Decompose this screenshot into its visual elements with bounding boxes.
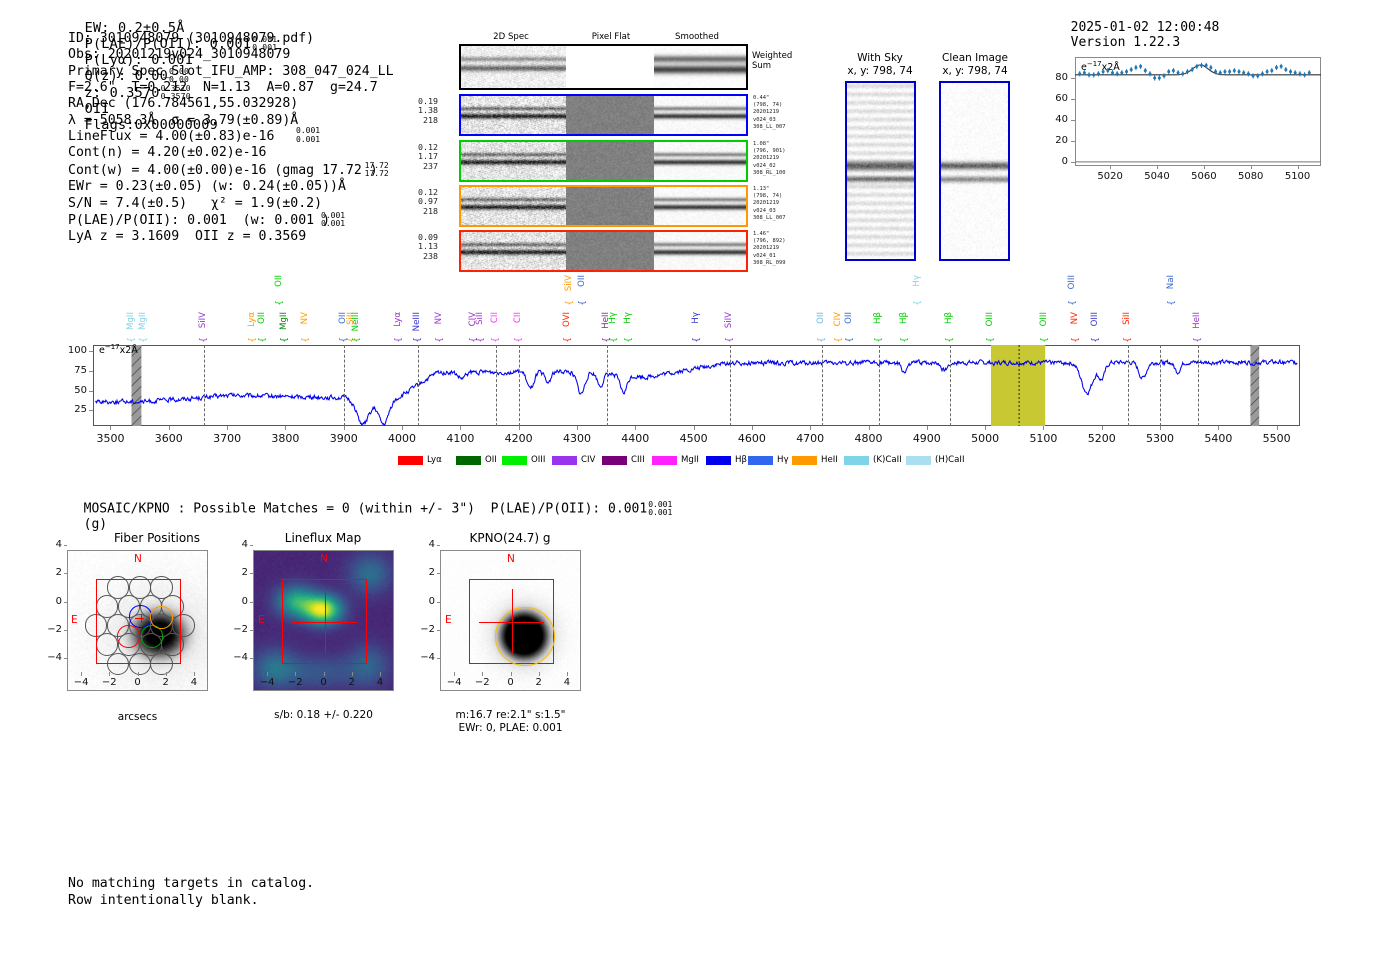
mosaic-ytick-label: −2 bbox=[43, 624, 62, 635]
main-xtick-label: 5300 bbox=[1140, 432, 1180, 445]
emission-line-brace: { bbox=[275, 300, 285, 306]
lineflux-east-label: E bbox=[258, 614, 265, 626]
emission-line-marker bbox=[730, 345, 731, 426]
main-spectrum-units: e−17x2Å bbox=[99, 343, 138, 356]
mosaic-ytick-label: 4 bbox=[43, 539, 62, 550]
emission-line-brace: { bbox=[578, 300, 588, 306]
emission-line-label: NV bbox=[1071, 312, 1080, 324]
spec2d-2dspec-strip bbox=[461, 96, 566, 134]
mosaic-xtick bbox=[166, 672, 167, 676]
spec2d-smoothed-strip bbox=[654, 96, 746, 134]
mosaic-xtick bbox=[194, 672, 195, 676]
emission-line-label: Hγ bbox=[692, 312, 701, 324]
emission-line-marker bbox=[1128, 345, 1129, 426]
emission-line-brace: { bbox=[413, 337, 423, 343]
object-info-block: ID: 3010948079 (3010948079.pdf) Obs: 202… bbox=[68, 31, 404, 246]
emission-line-brace: { bbox=[301, 337, 311, 343]
spec2d-smoothed-strip bbox=[654, 187, 746, 225]
spec2d-row-right-meta: 0.44"(798, 74)20201219v024_03308_LL_007 bbox=[753, 95, 785, 131]
emission-line-label: Hβ bbox=[945, 312, 954, 324]
legend-label: CIII bbox=[631, 455, 645, 465]
info-line-cont-w: Cont(w) = 4.00(±0.00)e-16 (gmag 17.72 )1… bbox=[68, 162, 404, 180]
emission-line-marker bbox=[204, 345, 205, 426]
mosaic-xtick-label: −2 bbox=[470, 677, 494, 688]
legend-label: HeII bbox=[821, 455, 838, 465]
main-xtick-label: 5000 bbox=[965, 432, 1005, 445]
emission-line-label: OII bbox=[817, 312, 826, 324]
mosaic-ytick-label: 0 bbox=[229, 596, 248, 607]
zoom-xtick-label: 5060 bbox=[1187, 171, 1221, 182]
spectrum-legend: LyαOIIOIIICIVCIIIMgIIHβHγHeII(K)CaII(H)C… bbox=[398, 455, 1018, 469]
spec2d-smoothed-strip bbox=[654, 232, 746, 270]
mosaic-headline: MOSAIC/KPNO : Possible Matches = 0 (with… bbox=[68, 486, 673, 532]
fiber-north-label: N bbox=[134, 553, 142, 565]
emission-line-label: Hγ bbox=[913, 275, 922, 287]
emission-line-label: MgII bbox=[280, 312, 289, 330]
emission-line-brace: { bbox=[1068, 300, 1078, 306]
emission-line-marker bbox=[344, 345, 345, 426]
mosaic-ytick bbox=[437, 630, 441, 631]
info-line-lineflux: LineFlux = 4.00(±0.83)e-16 bbox=[68, 129, 404, 145]
mosaic-ytick bbox=[250, 630, 254, 631]
main-xtick bbox=[810, 426, 811, 430]
emission-line-label: Lyα bbox=[394, 312, 403, 327]
clean-image-coords: x, y: 798, 74 bbox=[880, 65, 1070, 78]
info-line-lambda: λ = 5058.3Å σ = 3.79(±0.89)Å bbox=[68, 113, 404, 129]
info-line-snr: S/N = 7.4(±0.5) χ² = 1.9(±0.2) bbox=[68, 196, 404, 212]
mosaic-xtick bbox=[380, 672, 381, 676]
emission-line-label: Hγ bbox=[609, 312, 618, 324]
fiber-positions-xlabel: arcsecs bbox=[67, 711, 208, 723]
mosaic-xtick bbox=[324, 672, 325, 676]
mosaic-ytick-label: −2 bbox=[416, 624, 435, 635]
mosaic-ytick bbox=[64, 545, 68, 546]
emission-line-brace: { bbox=[1071, 337, 1081, 343]
emission-line-label: SiIV bbox=[725, 312, 734, 328]
fiber-crosshair-v bbox=[141, 614, 142, 623]
main-xtick bbox=[752, 426, 753, 430]
spec2d-pixelflat-strip bbox=[566, 142, 654, 180]
emission-line-marker bbox=[950, 345, 951, 426]
info-line-plae: P(LAE)/P(OII): 0.001 (w: 0.001 )0.0010.0… bbox=[68, 212, 404, 230]
emission-line-label: OIII bbox=[1040, 312, 1049, 326]
main-xtick-label: 4900 bbox=[907, 432, 947, 445]
main-xtick bbox=[227, 426, 228, 430]
info-line-cont-n: Cont(n) = 4.20(±0.02)e-16 bbox=[68, 145, 404, 161]
emission-line-label: OII bbox=[258, 312, 267, 324]
zoom-ytick-label: 40 bbox=[1043, 114, 1068, 125]
main-xtick-label: 4800 bbox=[849, 432, 889, 445]
spec2d-row-right-meta: 1.13"(798, 74)20201219v024_03308_LL_007 bbox=[753, 186, 785, 222]
spec2d-row-1 bbox=[459, 94, 748, 136]
emission-line-label: SiII bbox=[1123, 312, 1132, 325]
zoom-xtick-label: 5100 bbox=[1281, 171, 1315, 182]
emission-line-brace: { bbox=[1040, 337, 1050, 343]
emission-line-brace: { bbox=[352, 337, 362, 343]
spec2d-pixelflat-strip bbox=[566, 232, 654, 270]
emission-line-brace: { bbox=[469, 337, 479, 343]
with-sky-image bbox=[845, 81, 916, 261]
legend-swatch bbox=[456, 456, 481, 465]
emission-line-brace: { bbox=[563, 337, 573, 343]
legend-swatch bbox=[502, 456, 527, 465]
mosaic-ytick bbox=[64, 630, 68, 631]
spec2d-pixelflat-strip bbox=[566, 187, 654, 225]
main-xtick-label: 4500 bbox=[674, 432, 714, 445]
spec2d-2dspec-strip bbox=[461, 142, 566, 180]
emission-line-brace: { bbox=[258, 337, 268, 343]
mosaic-xtick bbox=[109, 672, 110, 676]
spec2d-col-header-smoothed: Smoothed bbox=[662, 32, 732, 42]
mosaic-xtick-label: 0 bbox=[312, 677, 336, 688]
mosaic-ytick-label: −4 bbox=[416, 652, 435, 663]
mosaic-xtick-label: −2 bbox=[283, 677, 307, 688]
emission-line-label: MgII bbox=[127, 312, 136, 330]
main-xtick bbox=[285, 426, 286, 430]
main-xtick bbox=[927, 426, 928, 430]
lineflux-map-title: Lineflux Map bbox=[228, 531, 418, 545]
emission-line-label: Lyα bbox=[248, 312, 257, 327]
mosaic-ytick bbox=[64, 658, 68, 659]
mosaic-xtick bbox=[352, 672, 353, 676]
main-ytick-label: 50 bbox=[59, 385, 87, 396]
main-xtick bbox=[1160, 426, 1161, 430]
zoom-xtick-label: 5020 bbox=[1093, 171, 1127, 182]
emission-line-label: Hγ bbox=[624, 312, 633, 324]
mosaic-xtick-label: 2 bbox=[154, 677, 178, 688]
spec2d-2dspec-strip bbox=[461, 187, 566, 225]
mosaic-ytick-label: 2 bbox=[229, 567, 248, 578]
legend-label: Lyα bbox=[427, 455, 442, 465]
emission-line-brace: { bbox=[1091, 337, 1101, 343]
main-ytick bbox=[89, 371, 93, 372]
mosaic-xtick-label: −4 bbox=[69, 677, 93, 688]
mosaic-xtick-label: 4 bbox=[555, 677, 579, 688]
main-xtick bbox=[1218, 426, 1219, 430]
main-xtick bbox=[985, 426, 986, 430]
emission-line-brace: { bbox=[139, 337, 149, 343]
main-ytick-label: 100 bbox=[59, 345, 87, 356]
info-plae-errors-inline: 0.0010.001 bbox=[296, 127, 320, 143]
main-xtick-label: 5200 bbox=[1082, 432, 1122, 445]
emission-line-brace: { bbox=[1123, 337, 1133, 343]
zoom-ytick bbox=[1071, 99, 1075, 100]
kpno-east-label: E bbox=[445, 614, 452, 626]
spec2d-panel-group: 2D Spec Pixel Flat Smoothed WeightedSum … bbox=[440, 32, 810, 247]
zoom-ytick bbox=[1071, 120, 1075, 121]
mosaic-ytick bbox=[437, 602, 441, 603]
main-xtick bbox=[344, 426, 345, 430]
info-plae-w-errors: 0.0010.001 bbox=[321, 212, 345, 228]
main-xtick bbox=[1102, 426, 1103, 430]
mosaic-ytick-label: 0 bbox=[43, 596, 62, 607]
mosaic-xtick bbox=[454, 672, 455, 676]
mosaic-xtick-label: −4 bbox=[442, 677, 466, 688]
emission-line-label: OIII bbox=[986, 312, 995, 326]
emission-line-label: NV bbox=[301, 312, 310, 324]
legend-label: Hγ bbox=[777, 455, 789, 465]
mosaic-xtick bbox=[138, 672, 139, 676]
main-ytick bbox=[89, 410, 93, 411]
main-xtick-label: 4000 bbox=[382, 432, 422, 445]
emission-line-label: NaI bbox=[1167, 275, 1176, 289]
fiber-east-label: E bbox=[71, 614, 78, 626]
header-datetime: 2025-01-02 12:00:48 bbox=[1071, 20, 1220, 35]
main-xtick-label: 3800 bbox=[265, 432, 305, 445]
info-line-obs: Obs: 20201219v024_3010948079 bbox=[68, 47, 404, 63]
zoom-ytick-label: 0 bbox=[1043, 156, 1068, 167]
emission-line-marker bbox=[496, 345, 497, 426]
legend-swatch bbox=[398, 456, 423, 465]
mosaic-xtick bbox=[81, 672, 82, 676]
main-xtick bbox=[169, 426, 170, 430]
emission-line-brace: { bbox=[127, 337, 137, 343]
legend-swatch bbox=[652, 456, 677, 465]
main-xtick-label: 4400 bbox=[615, 432, 655, 445]
emission-line-brace: { bbox=[986, 337, 996, 343]
mosaic-xtick-label: 4 bbox=[182, 677, 206, 688]
main-xtick bbox=[402, 426, 403, 430]
emission-line-brace: { bbox=[834, 337, 844, 343]
mosaic-xtick-label: 2 bbox=[527, 677, 551, 688]
spec2d-row-left-values: 0.121.17237 bbox=[408, 143, 438, 171]
header-timestamp-version: 2025-01-02 12:00:48 Version 1.22.3 bbox=[1055, 5, 1235, 50]
mosaic-ytick-label: 4 bbox=[229, 539, 248, 550]
info-line-id: ID: 3010948079 (3010948079.pdf) bbox=[68, 31, 404, 47]
main-ytick-label: 25 bbox=[59, 404, 87, 415]
info-line-fluxparams: F=2.6" T=0.212 N=1.13 A=0.87 g=24.7 bbox=[68, 80, 404, 96]
info-gmag-errors: 17.7217.72 bbox=[365, 162, 389, 178]
mosaic-xtick bbox=[511, 672, 512, 676]
emission-line-label: MgII bbox=[139, 312, 148, 330]
mosaic-ytick-label: −4 bbox=[229, 652, 248, 663]
emission-line-brace: { bbox=[624, 337, 634, 343]
emission-line-label: Hβ bbox=[900, 312, 909, 324]
emission-line-label: OII bbox=[845, 312, 854, 324]
emission-line-label: OVI bbox=[563, 312, 572, 327]
spec2d-smoothed-strip bbox=[654, 142, 746, 180]
kpno-north-label: N bbox=[507, 553, 515, 565]
emission-line-brace: { bbox=[874, 337, 884, 343]
spec2d-ws-2dspec bbox=[461, 46, 566, 88]
mosaic-xtick-label: −2 bbox=[97, 677, 121, 688]
spec2d-col-header-pixelflat: Pixel Flat bbox=[578, 32, 644, 42]
zoom-xtick bbox=[1298, 165, 1299, 169]
spec2d-2dspec-strip bbox=[461, 232, 566, 270]
mosaic-ytick bbox=[250, 658, 254, 659]
lineflux-north-label: N bbox=[320, 553, 328, 565]
legend-label: (H)CaII bbox=[935, 455, 965, 465]
legend-swatch bbox=[844, 456, 869, 465]
spec2d-row-4 bbox=[459, 230, 748, 272]
main-xtick-label: 3600 bbox=[149, 432, 189, 445]
emission-line-label: NV bbox=[435, 312, 444, 324]
emission-line-brace: { bbox=[199, 337, 209, 343]
zoom-xtick bbox=[1204, 165, 1205, 169]
zoom-xtick bbox=[1157, 165, 1158, 169]
zoom-ytick bbox=[1071, 141, 1075, 142]
mosaic-plae-errors: 0.0010.001 bbox=[648, 501, 672, 517]
zoom-ytick bbox=[1071, 162, 1075, 163]
mosaic-ytick bbox=[250, 545, 254, 546]
mosaic-ytick-label: −2 bbox=[229, 624, 248, 635]
emission-line-marker bbox=[607, 345, 608, 426]
info-plae-text: P(LAE)/P(OII): 0.001 (w: 0.001 ) bbox=[68, 213, 330, 228]
emission-line-marker bbox=[822, 345, 823, 426]
main-xtick-label: 5100 bbox=[1023, 432, 1063, 445]
zoom-xtick-label: 5080 bbox=[1234, 171, 1268, 182]
mosaic-xtick-label: 4 bbox=[368, 677, 392, 688]
emission-line-brace: { bbox=[248, 337, 258, 343]
mosaic-ytick-label: 0 bbox=[416, 596, 435, 607]
emission-line-brace: { bbox=[394, 337, 404, 343]
info-line-redshifts: LyA z = 3.1609 OII z = 0.3569 bbox=[68, 229, 404, 245]
mosaic-ytick bbox=[64, 602, 68, 603]
spec2d-row-left-values: 0.091.13238 bbox=[408, 233, 438, 261]
info-line-radec: RA,Dec (176.784561,55.032928) bbox=[68, 96, 404, 112]
zoom-xtick bbox=[1251, 165, 1252, 169]
zoom-spectrum-chart: e−17x2Å 50205040506050805100020406080 bbox=[1043, 57, 1321, 209]
kpno-title: KPNO(24.7) g bbox=[415, 531, 605, 545]
mosaic-xtick-label: 0 bbox=[126, 677, 150, 688]
legend-swatch bbox=[906, 456, 931, 465]
zoom-xtick bbox=[1110, 165, 1111, 169]
kpno-aperture-circle bbox=[495, 607, 554, 666]
emission-line-label: NeIII bbox=[413, 312, 422, 331]
mosaic-xtick-label: 0 bbox=[499, 677, 523, 688]
main-xtick-label: 5400 bbox=[1198, 432, 1238, 445]
info-line-ewr: EWr = 0.23(±0.05) (w: 0.24(±0.05))Å bbox=[68, 179, 404, 195]
emission-line-label: SiIV bbox=[199, 312, 208, 328]
spec2d-weighted-sum-label: WeightedSum bbox=[752, 51, 792, 71]
emission-line-brace: { bbox=[725, 337, 735, 343]
emission-line-label: CII bbox=[491, 312, 500, 323]
main-xtick bbox=[869, 426, 870, 430]
legend-label: OII bbox=[485, 455, 497, 465]
mosaic-ytick bbox=[250, 602, 254, 603]
legend-label: MgII bbox=[681, 455, 699, 465]
emission-line-brace: { bbox=[845, 337, 855, 343]
bottom-note-line2: Row intentionally blank. bbox=[68, 892, 314, 909]
mosaic-headline-text: MOSAIC/KPNO : Possible Matches = 0 (with… bbox=[84, 502, 648, 517]
legend-label: (K)CaII bbox=[873, 455, 902, 465]
emission-line-brace: { bbox=[609, 337, 619, 343]
emission-line-label: OII bbox=[578, 275, 587, 287]
main-ytick bbox=[89, 391, 93, 392]
spec2d-row-right-meta: 1.08"(796, 901)20201219v024_02308_RL_100 bbox=[753, 141, 785, 177]
emission-line-brace: { bbox=[491, 337, 501, 343]
spec2d-row-left-values: 0.191.38218 bbox=[408, 97, 438, 125]
spec2d-row-2 bbox=[459, 140, 748, 182]
bottom-note-line1: No matching targets in catalog. bbox=[68, 875, 314, 892]
emission-line-brace: { bbox=[514, 337, 524, 343]
emission-line-label: Hβ bbox=[874, 312, 883, 324]
main-xtick bbox=[110, 426, 111, 430]
spec2d-row-right-meta: 1.46"(796, 892)20201219v024_01308_RL_099 bbox=[753, 231, 785, 267]
lineflux-map-caption: s/b: 0.18 +/- 0.220 bbox=[253, 709, 394, 722]
fiber-positions-title: Fiber Positions bbox=[62, 531, 252, 545]
main-ytick-label: 75 bbox=[59, 365, 87, 376]
mosaic-ytick-label: 2 bbox=[43, 567, 62, 578]
main-xtick bbox=[694, 426, 695, 430]
legend-label: CIV bbox=[581, 455, 595, 465]
emission-line-label: CIV bbox=[834, 312, 843, 326]
main-xtick-label: 5500 bbox=[1257, 432, 1297, 445]
kpno-caption: m:16.7 re:2.1" s:1.5"EWr: 0, PLAE: 0.001 bbox=[430, 709, 591, 734]
spec2d-ws-smoothed bbox=[654, 46, 746, 88]
main-xtick bbox=[519, 426, 520, 430]
emission-line-marker bbox=[1160, 345, 1161, 426]
emission-line-marker bbox=[879, 345, 880, 426]
emission-line-brace: { bbox=[1193, 337, 1203, 343]
clean-image-title: Clean Image bbox=[880, 52, 1070, 65]
zoom-ytick-label: 60 bbox=[1043, 93, 1068, 104]
emission-line-brace: { bbox=[1167, 300, 1177, 306]
legend-swatch bbox=[792, 456, 817, 465]
mosaic-ytick bbox=[437, 545, 441, 546]
emission-line-label: CIV bbox=[469, 312, 478, 326]
fiber-crosshair-h bbox=[135, 618, 144, 619]
main-xtick bbox=[1043, 426, 1044, 430]
spec2d-row-3 bbox=[459, 185, 748, 227]
emission-line-marker bbox=[418, 345, 419, 426]
emission-line-label: CII bbox=[514, 312, 523, 323]
main-xtick-label: 4600 bbox=[732, 432, 772, 445]
main-xtick-label: 4300 bbox=[557, 432, 597, 445]
kpno-crosshair-v bbox=[512, 589, 513, 654]
lineflux-crosshair-v bbox=[325, 589, 326, 654]
mosaic-xtick bbox=[267, 672, 268, 676]
legend-swatch bbox=[552, 456, 577, 465]
mosaic-xtick bbox=[567, 672, 568, 676]
mosaic-xtick bbox=[482, 672, 483, 676]
mosaic-xtick bbox=[539, 672, 540, 676]
main-xtick-label: 4700 bbox=[790, 432, 830, 445]
legend-swatch bbox=[602, 456, 627, 465]
mosaic-xtick-label: −4 bbox=[255, 677, 279, 688]
main-xtick-label: 3700 bbox=[207, 432, 247, 445]
emission-line-brace: { bbox=[692, 337, 702, 343]
mosaic-ytick-label: −4 bbox=[43, 652, 62, 663]
bottom-notes: No matching targets in catalog. Row inte… bbox=[68, 875, 314, 909]
legend-label: Hβ bbox=[735, 455, 747, 465]
spec2d-pixelflat-strip bbox=[566, 96, 654, 134]
fiber-red-box bbox=[96, 579, 181, 664]
mosaic-xtick-label: 2 bbox=[340, 677, 364, 688]
main-xtick bbox=[577, 426, 578, 430]
main-xtick bbox=[460, 426, 461, 430]
main-xtick-label: 3900 bbox=[324, 432, 364, 445]
emission-line-label: OIII bbox=[1068, 275, 1077, 289]
spec2d-row-weighted-sum bbox=[459, 44, 748, 90]
main-xtick bbox=[635, 426, 636, 430]
emission-line-marker bbox=[519, 345, 520, 426]
mosaic-ytick-label: 4 bbox=[416, 539, 435, 550]
emission-line-label: OII bbox=[275, 275, 284, 287]
main-xtick-label: 4100 bbox=[440, 432, 480, 445]
mosaic-ytick bbox=[437, 573, 441, 574]
emission-line-label: NeIII bbox=[352, 312, 361, 331]
spec2d-col-header-2dspec: 2D Spec bbox=[478, 32, 544, 42]
emission-line-label: OIII bbox=[1091, 312, 1100, 326]
zoom-ytick bbox=[1071, 78, 1075, 79]
emission-line-brace: { bbox=[435, 337, 445, 343]
legend-label: OIII bbox=[531, 455, 545, 465]
mosaic-xtick bbox=[295, 672, 296, 676]
main-xtick bbox=[1277, 426, 1278, 430]
mosaic-ytick bbox=[64, 573, 68, 574]
legend-swatch bbox=[748, 456, 773, 465]
